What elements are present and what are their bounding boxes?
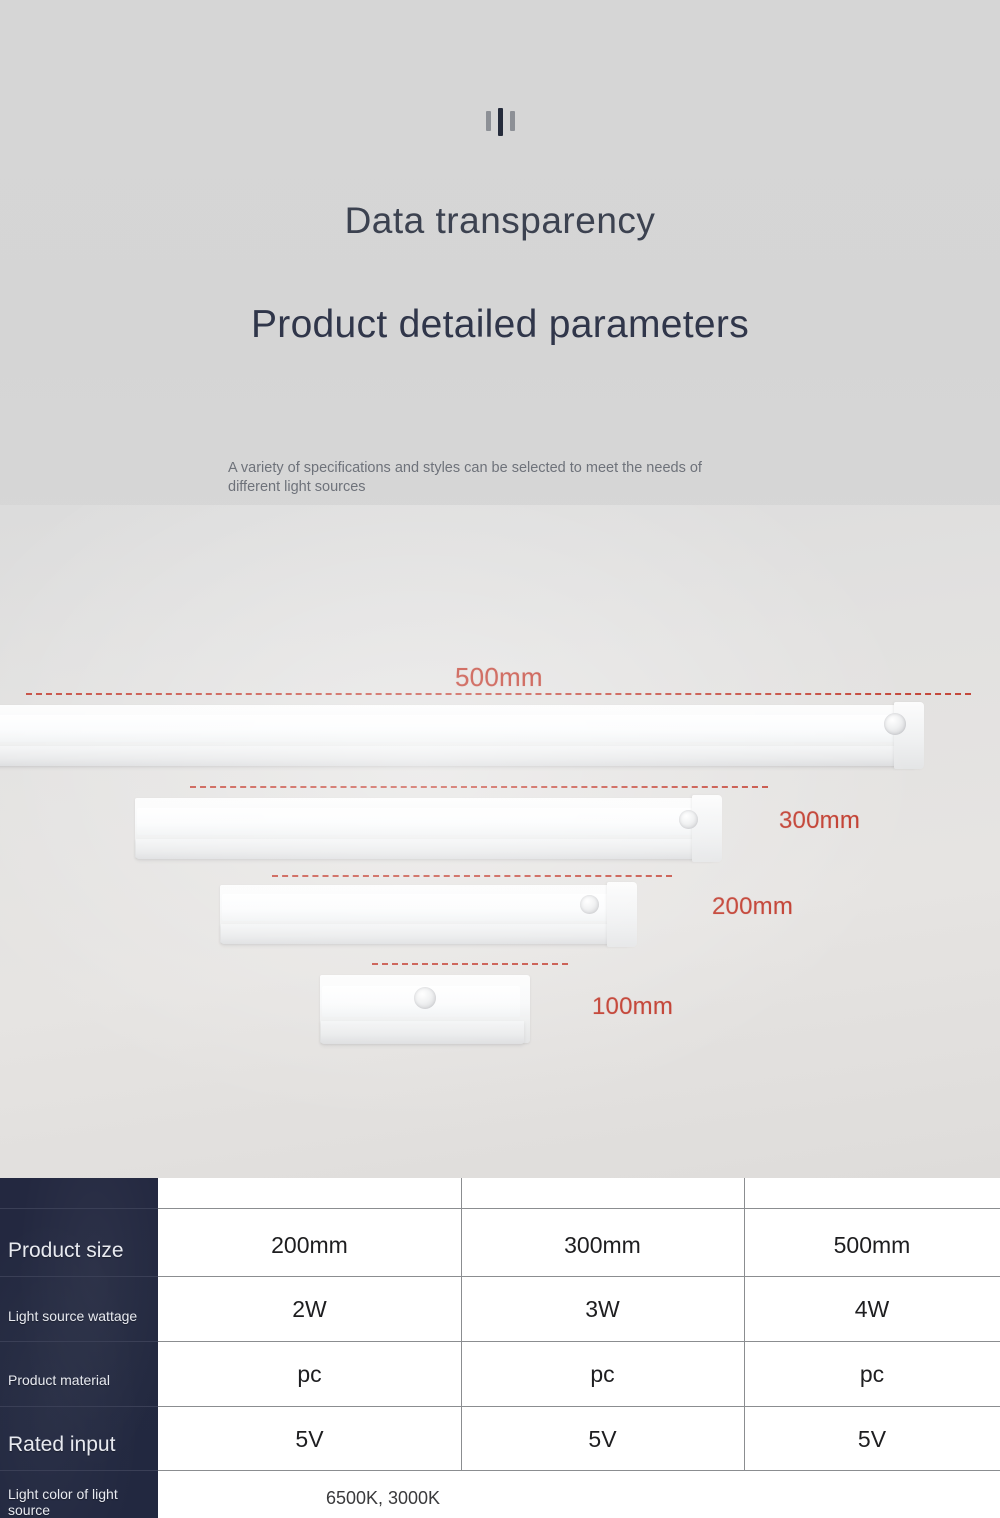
bar-lens xyxy=(0,715,912,743)
spec-row-label-light-color: Light color of light source xyxy=(8,1478,150,1518)
row-divider xyxy=(158,1208,1000,1209)
bar-sensor-icon xyxy=(580,895,599,914)
three-bar-divider-icon xyxy=(0,108,1000,136)
page-title: Data transparency xyxy=(0,200,1000,242)
spec-cell: 6500K, 3000K xyxy=(158,1488,608,1509)
bar-end-cap xyxy=(894,702,924,769)
bar-base xyxy=(0,746,916,766)
spec-row-label-wattage: Light source wattage xyxy=(8,1286,150,1348)
dimension-label-200: 200mm xyxy=(712,893,793,921)
spec-cell: 500mm xyxy=(744,1232,1000,1259)
spec-cell: pc xyxy=(461,1361,744,1388)
label-divider xyxy=(0,1208,158,1209)
row-divider xyxy=(158,1470,1000,1471)
spec-table: Product size Light source wattage Produc… xyxy=(0,1178,1000,1518)
measure-line-300 xyxy=(190,786,768,788)
spec-row-label-product-size: Product size xyxy=(8,1220,150,1282)
bar-base xyxy=(136,839,714,859)
divider-bar-right xyxy=(510,111,515,131)
label-divider xyxy=(0,1406,158,1407)
product-photo: 500mm 300mm 200mm 10 xyxy=(0,505,1000,1180)
bar-sensor-icon xyxy=(414,987,436,1009)
measure-line-100 xyxy=(372,963,568,965)
spec-cell: pc xyxy=(744,1361,1000,1388)
row-divider xyxy=(158,1341,1000,1342)
dimension-label-100: 100mm xyxy=(592,993,673,1021)
bar-sensor-icon xyxy=(679,810,698,829)
led-bar-100mm xyxy=(320,975,530,1043)
measure-line-500 xyxy=(26,693,971,695)
label-divider xyxy=(0,1341,158,1342)
bar-lens xyxy=(222,894,625,921)
led-bar-200mm xyxy=(220,885,635,943)
divider-bar-left xyxy=(486,111,491,131)
divider-bar-center xyxy=(498,108,503,136)
spec-cell: 2W xyxy=(158,1296,461,1323)
spec-cell: 4W xyxy=(744,1296,1000,1323)
bar-end-cap xyxy=(607,882,637,947)
row-divider xyxy=(158,1406,1000,1407)
bar-end-cap xyxy=(692,795,722,862)
spec-cell: 5V xyxy=(461,1426,744,1453)
page-subtitle: A variety of specifications and styles c… xyxy=(228,459,758,497)
spec-row-label-material: Product material xyxy=(8,1350,150,1412)
bar-lens xyxy=(137,808,710,836)
spec-cell: 5V xyxy=(744,1426,1000,1453)
row-divider xyxy=(158,1276,1000,1277)
spec-cell: pc xyxy=(158,1361,461,1388)
page-heading: Product detailed parameters xyxy=(0,303,1000,347)
spec-cell: 5V xyxy=(158,1426,461,1453)
spec-cell: 300mm xyxy=(461,1232,744,1259)
measure-line-200 xyxy=(272,875,672,877)
dimension-label-300: 300mm xyxy=(779,807,860,835)
bar-base xyxy=(221,924,629,944)
led-bar-300mm xyxy=(135,798,720,858)
label-divider xyxy=(0,1470,158,1471)
bar-base xyxy=(321,1021,524,1044)
spec-row-label-rated-input: Rated input xyxy=(8,1414,150,1476)
product-detail-page: Data transparency Product detailed param… xyxy=(0,0,1000,1518)
led-bar-500mm xyxy=(0,705,922,765)
spec-cell: 3W xyxy=(461,1296,744,1323)
bar-sensor-icon xyxy=(884,713,906,735)
dimension-label-500: 500mm xyxy=(455,662,543,693)
label-divider xyxy=(0,1276,158,1277)
spec-cell: 200mm xyxy=(158,1232,461,1259)
